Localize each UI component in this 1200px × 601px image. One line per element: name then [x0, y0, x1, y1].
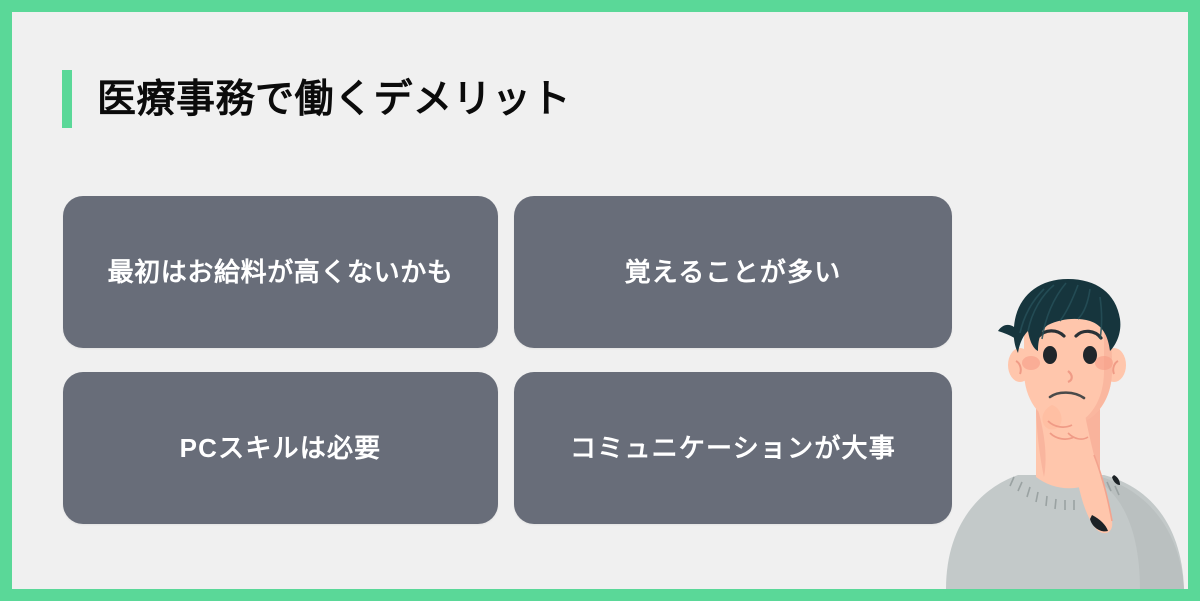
demerit-card-label: コミュニケーションが大事 [570, 432, 896, 465]
demerit-card-label: 覚えることが多い [625, 256, 842, 289]
page-title-text: 医療事務で働くデメリット [97, 80, 571, 119]
slide-frame: 医療事務で働くデメリット 最初はお給料が高くないかも 覚えることが多い PCスキ… [0, 0, 1200, 601]
page-title: 医療事務で働くデメリット [62, 70, 571, 128]
sweater-shape [946, 475, 1184, 589]
thinking-man-illustration [944, 279, 1188, 589]
demerit-card-salary[interactable]: 最初はお給料が高くないかも [63, 196, 498, 348]
demerit-card-grid: 最初はお給料が高くないかも 覚えることが多い PCスキルは必要 コミュニケーショ… [63, 196, 953, 524]
title-accent-bar [62, 70, 72, 128]
demerit-card-pc-skill[interactable]: PCスキルは必要 [63, 372, 498, 524]
slide-canvas: 医療事務で働くデメリット 最初はお給料が高くないかも 覚えることが多い PCスキ… [12, 12, 1188, 589]
demerit-card-learning[interactable]: 覚えることが多い [514, 196, 952, 348]
demerit-card-label: 最初はお給料が高くないかも [108, 256, 454, 289]
demerit-card-communication[interactable]: コミュニケーションが大事 [514, 372, 952, 524]
demerit-card-label: PCスキルは必要 [180, 432, 382, 465]
